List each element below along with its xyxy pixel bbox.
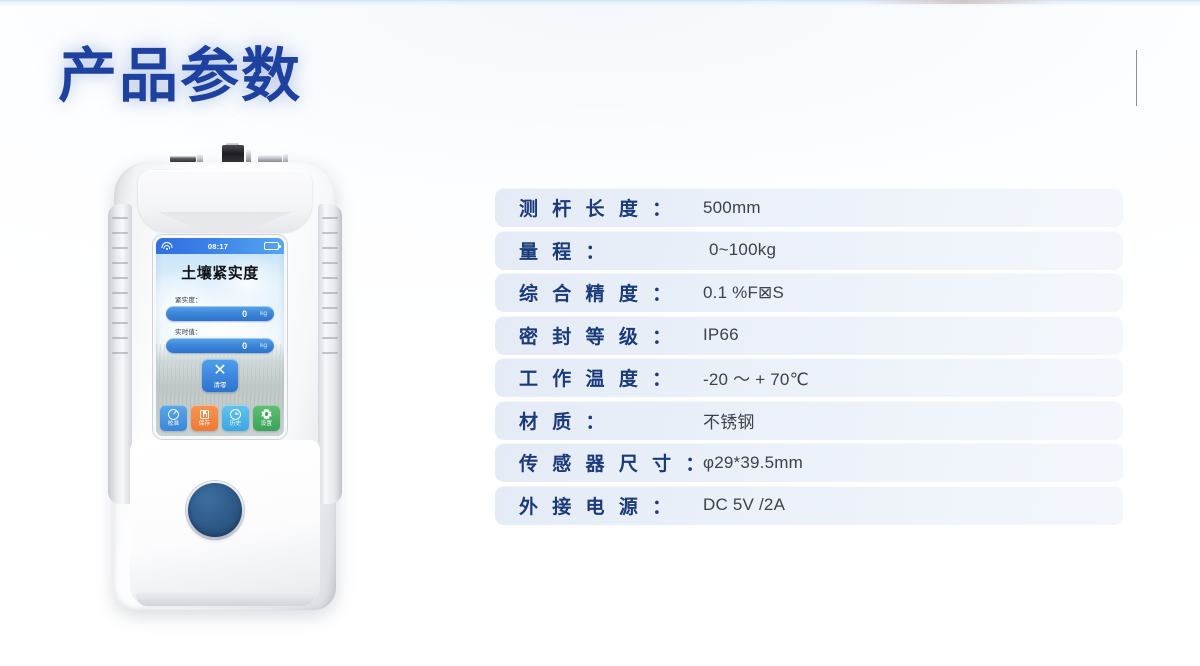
- spec-row: 工 作 温 度 ：-20 ～ + 70℃: [495, 358, 1123, 397]
- screen-button-history[interactable]: 历史: [222, 405, 249, 431]
- screen-title: 土壤紧实度: [156, 262, 284, 283]
- close-x-icon: ✕: [202, 363, 238, 379]
- product-image: 08:17 土壤紧实度 紧实度： 0 kg 实时值： 0 kg ✕ 清零: [100, 140, 350, 620]
- device-grip-left: [108, 204, 132, 504]
- device-base: [136, 592, 314, 606]
- spec-value: -20 ～ + 70℃: [703, 365, 1123, 390]
- header-divider: [1136, 50, 1137, 106]
- gauge-icon: [168, 409, 179, 420]
- spec-label: 材 质 ：: [495, 407, 703, 434]
- screen-button-calibrate[interactable]: 校准: [160, 405, 187, 431]
- screen-button-settings[interactable]: 设置: [253, 405, 280, 431]
- gear-icon: [261, 409, 272, 420]
- spec-row: 外 接 电 源 ：DC 5V /2A: [495, 486, 1123, 525]
- spec-value: 500mm: [703, 198, 1123, 218]
- spec-row: 测 杆 长 度 ：500mm: [495, 188, 1123, 227]
- reading-unit: kg: [260, 310, 267, 317]
- top-accent-band: [860, 0, 1120, 4]
- spec-row: 综 合 精 度 ：0.1 %F⊠S: [495, 273, 1123, 312]
- reading-value-pill: 0 kg: [166, 306, 274, 321]
- screen-button-save[interactable]: 保存: [191, 405, 218, 431]
- reading-label: 紧实度：: [166, 294, 274, 304]
- reading-field-compaction: 紧实度： 0 kg: [166, 294, 274, 321]
- screen-button-label: 设置: [261, 421, 272, 427]
- page-title: 产品参数: [58, 41, 302, 111]
- reading-unit: kg: [260, 342, 267, 349]
- spec-value: 0.1 %F⊠S: [703, 283, 1123, 303]
- screen-button-label: 保存: [199, 421, 210, 427]
- device-screen: 08:17 土壤紧实度 紧实度： 0 kg 实时值： 0 kg ✕ 清零: [156, 238, 284, 436]
- device-grip-right: [318, 204, 342, 504]
- reading-value: 0: [242, 341, 247, 351]
- screen-button-label: 校准: [168, 421, 179, 427]
- spec-row: 材 质 ：不锈钢: [495, 401, 1123, 440]
- spec-row: 传 感 器 尺 寸 ：φ29*39.5mm: [495, 443, 1123, 482]
- spec-row: 量 程 ： 0~100kg: [495, 231, 1123, 270]
- reading-label: 实时值：: [166, 326, 274, 336]
- spec-label: 综 合 精 度 ：: [495, 279, 703, 306]
- floppy-icon: [199, 409, 210, 420]
- wifi-icon: [161, 242, 172, 251]
- spec-value: 不锈钢: [703, 408, 1123, 433]
- screen-status-bar: 08:17: [156, 238, 284, 254]
- spec-label: 工 作 温 度 ：: [495, 364, 703, 391]
- screen-toolbar: 校准 保存 历史 设置: [156, 402, 284, 436]
- screen-clear-button[interactable]: ✕ 清零: [202, 359, 238, 392]
- spec-value: φ29*39.5mm: [703, 453, 1123, 473]
- spec-label: 密 封 等 级 ：: [495, 322, 703, 349]
- spec-label: 测 杆 长 度 ：: [495, 194, 703, 221]
- clock-icon: [230, 409, 241, 420]
- spec-label: 传 感 器 尺 寸 ：: [495, 449, 703, 476]
- spec-row: 密 封 等 级 ：IP66: [495, 316, 1123, 355]
- specifications-table: 测 杆 长 度 ：500mm量 程 ： 0~100kg综 合 精 度 ：0.1 …: [495, 188, 1123, 528]
- reading-value: 0: [242, 309, 247, 319]
- spec-value: 0~100kg: [703, 240, 1123, 260]
- spec-label: 量 程 ：: [495, 237, 703, 264]
- battery-icon: [264, 242, 279, 250]
- spec-value: IP66: [703, 325, 1123, 345]
- screen-clear-label: 清零: [202, 379, 238, 389]
- reading-value-pill: 0 kg: [166, 338, 274, 353]
- spec-label: 外 接 电 源 ：: [495, 492, 703, 519]
- screen-button-label: 历史: [230, 421, 241, 427]
- spec-value: DC 5V /2A: [703, 495, 1123, 515]
- reading-field-realtime: 实时值： 0 kg: [166, 326, 274, 353]
- device-power-button[interactable]: [188, 483, 242, 537]
- status-bar-time: 08:17: [172, 242, 264, 251]
